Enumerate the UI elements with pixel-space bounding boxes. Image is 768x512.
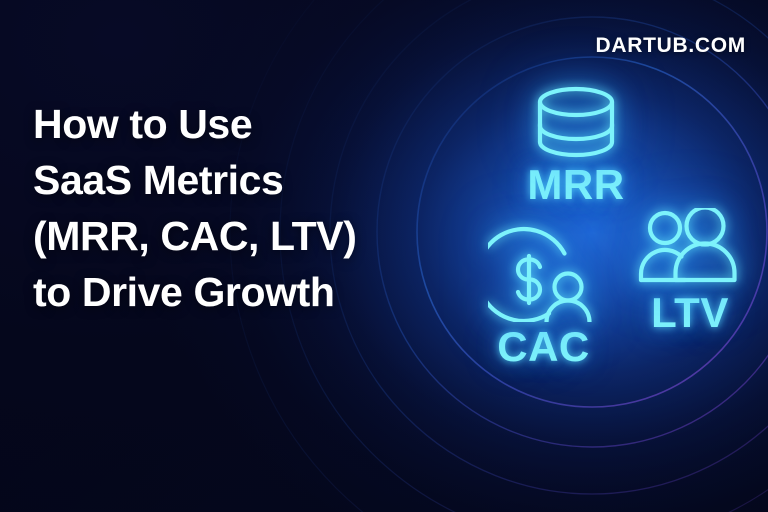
title-line-4: to Drive Growth — [33, 264, 433, 320]
page-title: How to Use SaaS Metrics (MRR, CAC, LTV) … — [33, 96, 433, 320]
title-line-3: (MRR, CAC, LTV) — [33, 208, 433, 264]
dollar-circle-person-icon — [466, 226, 621, 322]
metric-mrr-label: MRR — [486, 164, 666, 206]
metric-ltv: LTV — [615, 208, 765, 334]
site-logo: DARTUB.COM — [596, 34, 746, 58]
title-line-1: How to Use — [33, 96, 433, 152]
title-line-2: SaaS Metrics — [33, 152, 433, 208]
poster-canvas: DARTUB.COM How to Use SaaS Metrics (MRR,… — [0, 0, 768, 512]
two-people-icon — [615, 208, 765, 286]
database-stack-icon — [486, 86, 666, 158]
metric-cac: CAC — [466, 226, 621, 368]
metric-ltv-label: LTV — [615, 292, 765, 334]
metric-cac-label: CAC — [466, 326, 621, 368]
metric-mrr: MRR — [486, 86, 666, 206]
